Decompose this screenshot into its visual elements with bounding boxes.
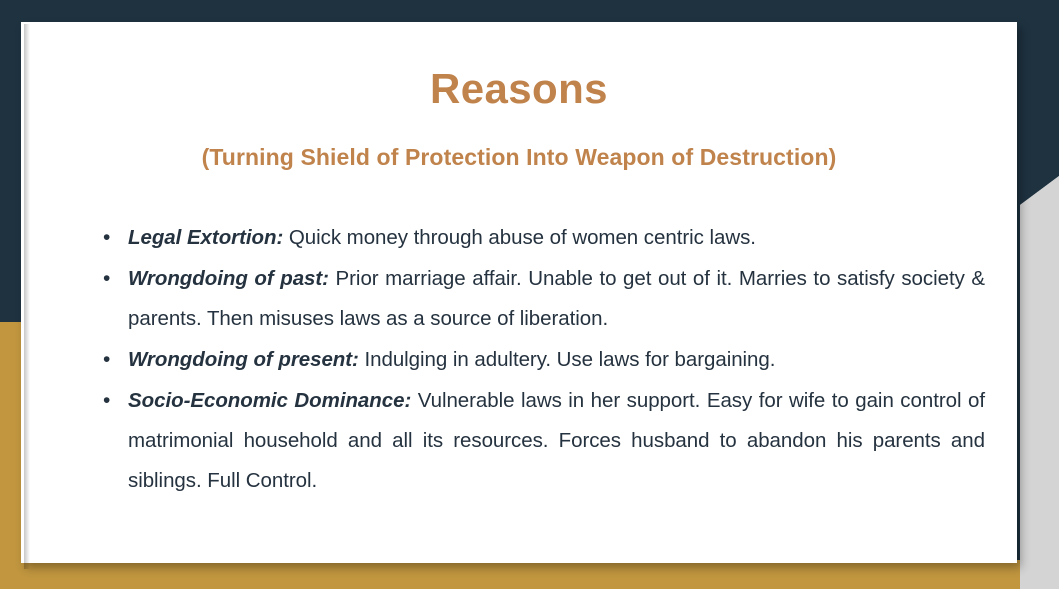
bullet-point-icon: • <box>95 340 128 380</box>
list-item: • Socio-Economic Dominance: Vulnerable l… <box>95 381 985 501</box>
list-item-text: Socio-Economic Dominance: Vulnerable law… <box>128 381 985 501</box>
slide-content-card: Reasons (Turning Shield of Protection In… <box>21 22 1017 563</box>
list-item-text: Wrongdoing of present: Indulging in adul… <box>128 340 985 380</box>
slide-subtitle: (Turning Shield of Protection Into Weapo… <box>21 144 1017 171</box>
list-item-lead: Wrongdoing of present: <box>128 348 359 371</box>
list-item: • Wrongdoing of past: Prior marriage aff… <box>95 259 985 339</box>
list-item-body: Quick money through abuse of women centr… <box>283 226 756 249</box>
slide-title: Reasons <box>21 65 1017 113</box>
slide-frame-gold-bottom-decoration <box>0 560 1059 589</box>
slide-frame-gray-right-decoration <box>1020 176 1059 589</box>
list-item: • Wrongdoing of present: Indulging in ad… <box>95 340 985 380</box>
bullet-list: • Legal Extortion: Quick money through a… <box>95 218 985 502</box>
list-item-lead: Legal Extortion: <box>128 226 283 249</box>
card-edge-shadow <box>24 24 30 569</box>
list-item: • Legal Extortion: Quick money through a… <box>95 218 985 258</box>
bullet-point-icon: • <box>95 218 128 258</box>
bullet-point-icon: • <box>95 381 128 421</box>
list-item-body: Indulging in adultery. Use laws for barg… <box>359 348 776 371</box>
bullet-point-icon: • <box>95 259 128 299</box>
list-item-text: Legal Extortion: Quick money through abu… <box>128 218 985 258</box>
list-item-lead: Socio-Economic Dominance: <box>128 389 411 412</box>
list-item-text: Wrongdoing of past: Prior marriage affai… <box>128 259 985 339</box>
presentation-slide: Reasons (Turning Shield of Protection In… <box>0 0 1059 589</box>
list-item-lead: Wrongdoing of past: <box>128 267 329 290</box>
